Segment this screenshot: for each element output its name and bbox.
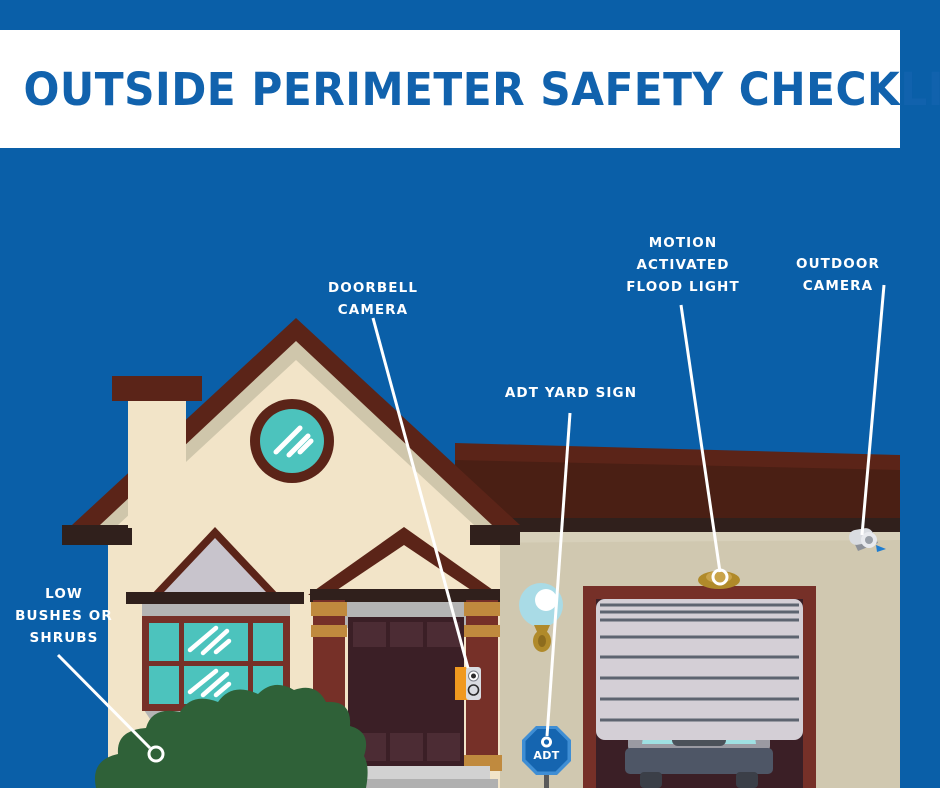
chimney-body [128, 393, 186, 528]
column-right-neck [464, 625, 500, 637]
flood-light-fixture[interactable] [698, 571, 740, 589]
garage-opening [583, 586, 816, 788]
callout-label-flood-light: MOTION ACTIVATED FLOOD LIGHT [608, 233, 758, 299]
column-right-capital [464, 602, 500, 616]
title-bar: OUTSIDE PERIMETER SAFETY CHECKLIST [0, 30, 900, 148]
column-left-neck [311, 625, 347, 637]
doorbell-camera-device[interactable] [455, 667, 481, 700]
infographic-canvas: ADT OUTSIDE PERIMETER SAFETY CHECKLIST L… [0, 0, 940, 788]
callout-label-low-bushes: LOW BUSHES OR SHRUBS [8, 584, 120, 650]
sconce-base-inner [538, 635, 546, 647]
car-wheel-right [736, 772, 758, 788]
doorbell-button[interactable] [469, 685, 479, 695]
attic-window-glass [260, 409, 324, 473]
page-title: OUTSIDE PERIMETER SAFETY CHECKLIST [0, 63, 940, 116]
chimney-cap [112, 376, 202, 401]
doorbell-lens-center [471, 674, 476, 679]
car-wheel-left [640, 772, 662, 788]
bay-window-roof-edge [126, 592, 304, 604]
gable-eave-right [470, 525, 520, 545]
yard-sign-text: ADT [533, 749, 559, 762]
garage-roof-fascia [455, 518, 900, 532]
gable-eave-left [62, 525, 132, 545]
garage-door[interactable] [596, 599, 803, 740]
callout-label-outdoor-camera: OUTDOOR CAMERA [772, 254, 904, 298]
sconce-bulb [535, 589, 557, 611]
camera-lens [865, 536, 873, 544]
attic-round-window [250, 399, 334, 483]
column-left-capital [311, 602, 347, 616]
callout-label-doorbell: DOORBELL CAMERA [300, 278, 446, 322]
car-bumper [625, 748, 773, 774]
callout-label-yard-sign: ADT YARD SIGN [492, 383, 650, 405]
yard-sign-logo-inner [544, 739, 549, 744]
